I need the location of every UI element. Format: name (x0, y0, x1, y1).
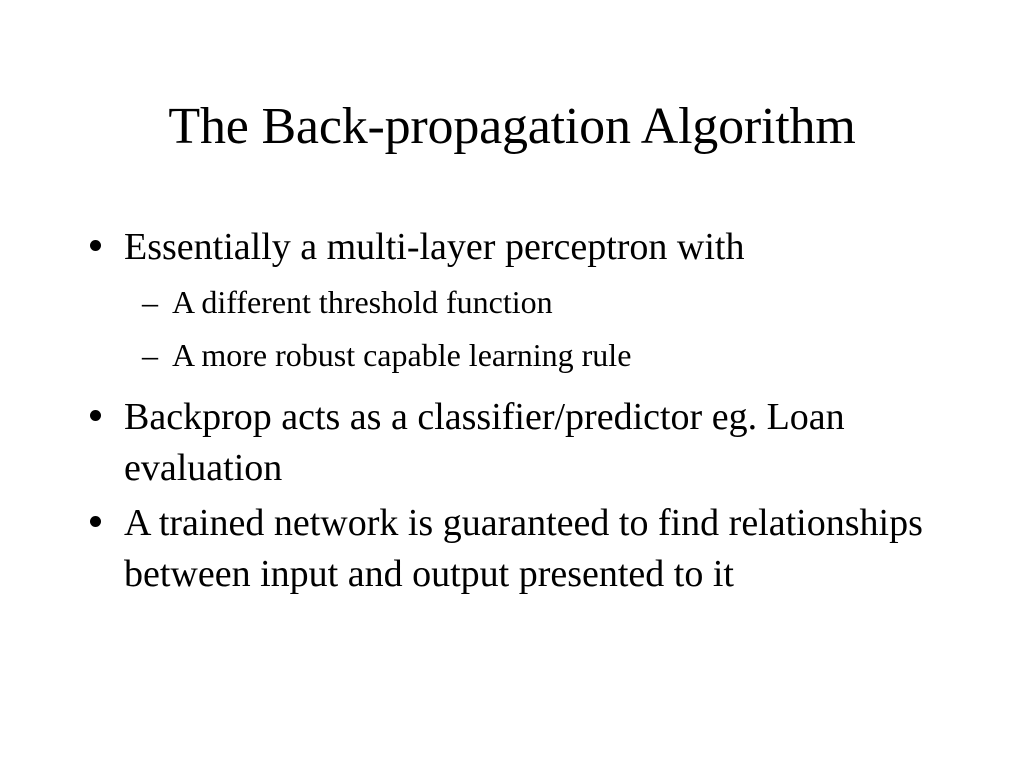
bullet-dot-icon (90, 498, 114, 549)
en-dash-icon: – (142, 329, 158, 382)
page-title: The Back-propagation Algorithm (0, 96, 1024, 158)
bullet-dot-icon (90, 392, 114, 443)
list-item-text: A trained network is guaranteed to find … (124, 498, 938, 600)
bullet-dot-icon (90, 222, 114, 273)
list-item: Essentially a multi-layer perceptron wit… (88, 222, 938, 273)
sub-list-item: – A different threshold function (88, 276, 938, 329)
list-item-text: Essentially a multi-layer perceptron wit… (124, 222, 938, 273)
sub-list-item-text: A different threshold function (172, 276, 938, 329)
sub-list-item-text: A more robust capable learning rule (172, 329, 938, 382)
slide-body: Essentially a multi-layer perceptron wit… (88, 222, 938, 600)
list-item-text: Backprop acts as a classifier/predictor … (124, 392, 938, 494)
sub-list: – A different threshold function – A mor… (88, 276, 938, 382)
slide: The Back-propagation Algorithm Essential… (0, 0, 1024, 768)
list-item: A trained network is guaranteed to find … (88, 498, 938, 600)
sub-list-item: – A more robust capable learning rule (88, 329, 938, 382)
en-dash-icon: – (142, 276, 158, 329)
list-item: Backprop acts as a classifier/predictor … (88, 392, 938, 494)
